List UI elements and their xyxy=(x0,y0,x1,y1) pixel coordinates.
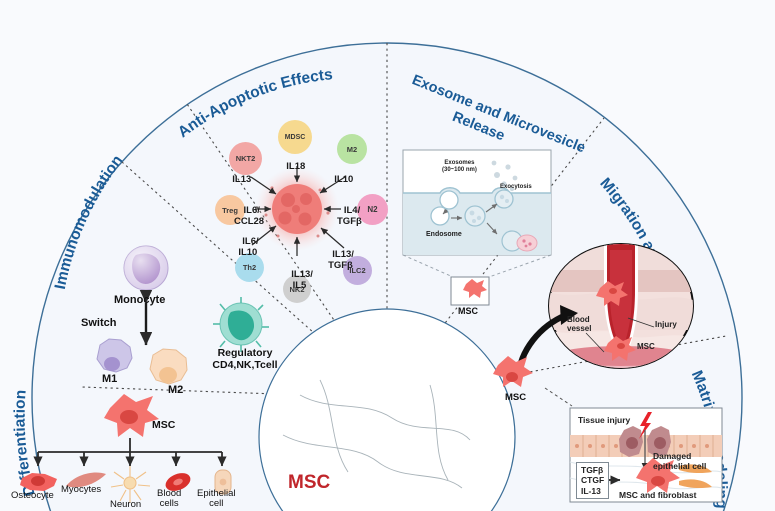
exosomes-label: Exosomes (30~100 nm) xyxy=(442,160,477,174)
cell-badge-m2: M2 xyxy=(337,134,367,164)
factor-ctgf: CTGF xyxy=(581,475,604,485)
matrix-factors-box: TGFβ CTGF IL-13 xyxy=(576,462,609,499)
cytokine-il6-il10: IL6/ IL10 xyxy=(237,227,259,258)
exocytosis-label: Exocytosis xyxy=(500,184,532,190)
switch-label: Switch xyxy=(81,317,116,329)
monocyte-cell xyxy=(124,246,168,290)
cytokine-il13-tgfb: IL13/ TGFβ xyxy=(327,240,354,271)
factor-tgfb: TGFβ xyxy=(581,465,604,475)
diagram-svg: Mesenchymal Stem Cell Mechanisms of Acti… xyxy=(0,0,775,511)
cell-badge-label: Th2 xyxy=(243,263,256,272)
cell-badge-mdsc: MDSC xyxy=(278,120,312,154)
migration-msc-outer-label: MSC xyxy=(505,392,526,403)
differentiation-msc-label: MSC xyxy=(152,419,175,431)
cell-badge-label: M2 xyxy=(347,145,357,154)
cell-badge-label: NKT2 xyxy=(236,154,256,163)
diagram-canvas: Mesenchymal Stem Cell Mechanisms of Acti… xyxy=(0,0,775,511)
cell-badge-label: MDSC xyxy=(285,134,306,141)
tissue-injury-label: Tissue injury xyxy=(578,415,630,425)
m1-macrophage xyxy=(97,339,132,372)
exosome-panel xyxy=(403,150,551,255)
cytokine-il10: IL10 xyxy=(329,165,353,186)
myocytes-label: Myocytes xyxy=(61,484,101,495)
epithelial-cell-label: Epithelial cell xyxy=(197,489,236,510)
monocyte-label: Monocyte xyxy=(114,294,165,306)
cytokine-il13-il5: IL13/ IL5 xyxy=(286,260,313,291)
m2-macrophage xyxy=(150,349,187,384)
regulatory-label: Regulatory CD4,NK,Tcell xyxy=(199,348,291,372)
cytokine-il18: IL18 xyxy=(281,152,305,173)
blood-cells-label: Blood cells xyxy=(157,489,181,510)
cytokine-il6-ccl28: IL6/ CCL28 xyxy=(234,196,264,227)
msc-fibroblast-label: MSC and fibroblast xyxy=(619,490,696,500)
blood-vessel-label: Blood vessel xyxy=(567,316,591,334)
damaged-epithelial-label: Damaged epithelial cell xyxy=(653,452,706,471)
osteocyte-label: Osteocyte xyxy=(11,490,54,501)
injury-label: Injury xyxy=(655,320,677,329)
cytokine-il13: IL13 xyxy=(227,165,251,186)
cell-badge-label: N2 xyxy=(367,205,377,214)
cytokine-il4-tgfb: IL4/ TGFβ xyxy=(337,196,362,227)
exosome-msc-box-label: MSC xyxy=(458,306,478,316)
exosome-msc-box xyxy=(451,277,489,305)
m1-label: M1 xyxy=(102,373,117,385)
endosome-label: Endosome xyxy=(426,231,462,238)
factor-il13: IL-13 xyxy=(581,486,604,496)
center-msc-label: MSC xyxy=(288,472,330,494)
migration-msc-inner-label: MSC xyxy=(637,342,655,351)
m2-label: M2 xyxy=(168,384,183,396)
neuron-label: Neuron xyxy=(110,499,141,510)
